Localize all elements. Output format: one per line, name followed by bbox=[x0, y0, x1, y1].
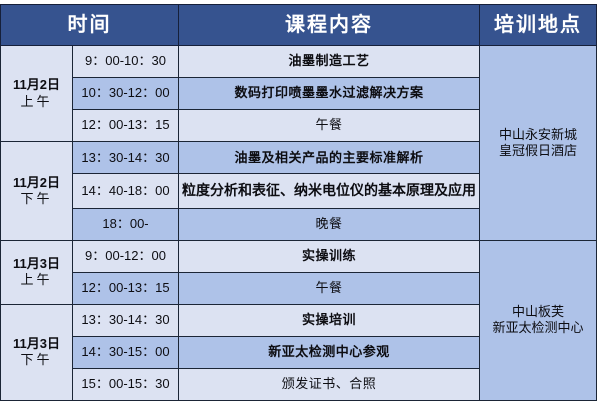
date-day: 11月2日 bbox=[3, 175, 70, 191]
course-content-cell: 实操培训 bbox=[179, 304, 480, 336]
date-cell: 11月3日上午 bbox=[1, 240, 73, 304]
course-content-cell: 油墨及相关产品的主要标准解析 bbox=[179, 142, 480, 174]
header-time: 时间 bbox=[1, 5, 179, 46]
table-row: 11月3日上午9：00-12：00实操训练中山板芙新亚太检测中心 bbox=[1, 240, 597, 272]
date-half: 上午 bbox=[3, 272, 70, 288]
time-cell: 10：30-12：00 bbox=[73, 78, 179, 110]
time-cell: 13：30-14：30 bbox=[73, 304, 179, 336]
course-content-cell: 数码打印喷墨墨水过滤解决方案 bbox=[179, 78, 480, 110]
date-day: 11月2日 bbox=[3, 77, 70, 93]
time-cell: 9：00-10：30 bbox=[73, 46, 179, 78]
time-cell: 14：30-15：00 bbox=[73, 336, 179, 368]
date-cell: 11月2日下午 bbox=[1, 142, 73, 240]
date-half: 上午 bbox=[3, 94, 70, 110]
course-content-cell: 颁发证书、合照 bbox=[179, 368, 480, 400]
location-line-2: 新亚太检测中心 bbox=[482, 320, 594, 336]
location-line-1: 中山永安新城 bbox=[482, 127, 594, 143]
table-header: 时间 课程内容 培训地点 bbox=[1, 5, 597, 46]
header-row: 时间 课程内容 培训地点 bbox=[1, 5, 597, 46]
header-content: 课程内容 bbox=[179, 5, 480, 46]
course-content-cell: 午餐 bbox=[179, 110, 480, 142]
time-cell: 12：00-13：15 bbox=[73, 110, 179, 142]
location-line-2: 皇冠假日酒店 bbox=[482, 143, 594, 159]
date-cell: 11月3日下午 bbox=[1, 304, 73, 400]
location-cell: 中山永安新城皇冠假日酒店 bbox=[480, 46, 597, 241]
course-content-cell: 油墨制造工艺 bbox=[179, 46, 480, 78]
date-half: 下午 bbox=[3, 352, 70, 368]
table-body: 11月2日上午9：00-10：30油墨制造工艺中山永安新城皇冠假日酒店10：30… bbox=[1, 46, 597, 401]
location-cell: 中山板芙新亚太检测中心 bbox=[480, 240, 597, 400]
time-cell: 14：40-18：00 bbox=[73, 174, 179, 208]
header-location: 培训地点 bbox=[480, 5, 597, 46]
time-cell: 12：00-13：15 bbox=[73, 272, 179, 304]
course-content-cell: 实操训练 bbox=[179, 240, 480, 272]
course-content-cell: 粒度分析和表征、纳米电位仪的基本原理及应用 bbox=[179, 174, 480, 208]
date-day: 11月3日 bbox=[3, 336, 70, 352]
date-day: 11月3日 bbox=[3, 256, 70, 272]
date-cell: 11月2日上午 bbox=[1, 46, 73, 142]
time-cell: 18：00- bbox=[73, 208, 179, 240]
date-half: 下午 bbox=[3, 191, 70, 207]
table-row: 11月2日上午9：00-10：30油墨制造工艺中山永安新城皇冠假日酒店 bbox=[1, 46, 597, 78]
time-cell: 9：00-12：00 bbox=[73, 240, 179, 272]
location-line-1: 中山板芙 bbox=[482, 304, 594, 320]
time-cell: 13：30-14：30 bbox=[73, 142, 179, 174]
training-schedule-table: 时间 课程内容 培训地点 11月2日上午9：00-10：30油墨制造工艺中山永安… bbox=[0, 4, 597, 401]
course-content-cell: 新亚太检测中心参观 bbox=[179, 336, 480, 368]
course-content-cell: 晚餐 bbox=[179, 208, 480, 240]
training-schedule-container: 时间 课程内容 培训地点 11月2日上午9：00-10：30油墨制造工艺中山永安… bbox=[0, 4, 596, 401]
course-content-cell: 午餐 bbox=[179, 272, 480, 304]
time-cell: 15：00-15：30 bbox=[73, 368, 179, 400]
